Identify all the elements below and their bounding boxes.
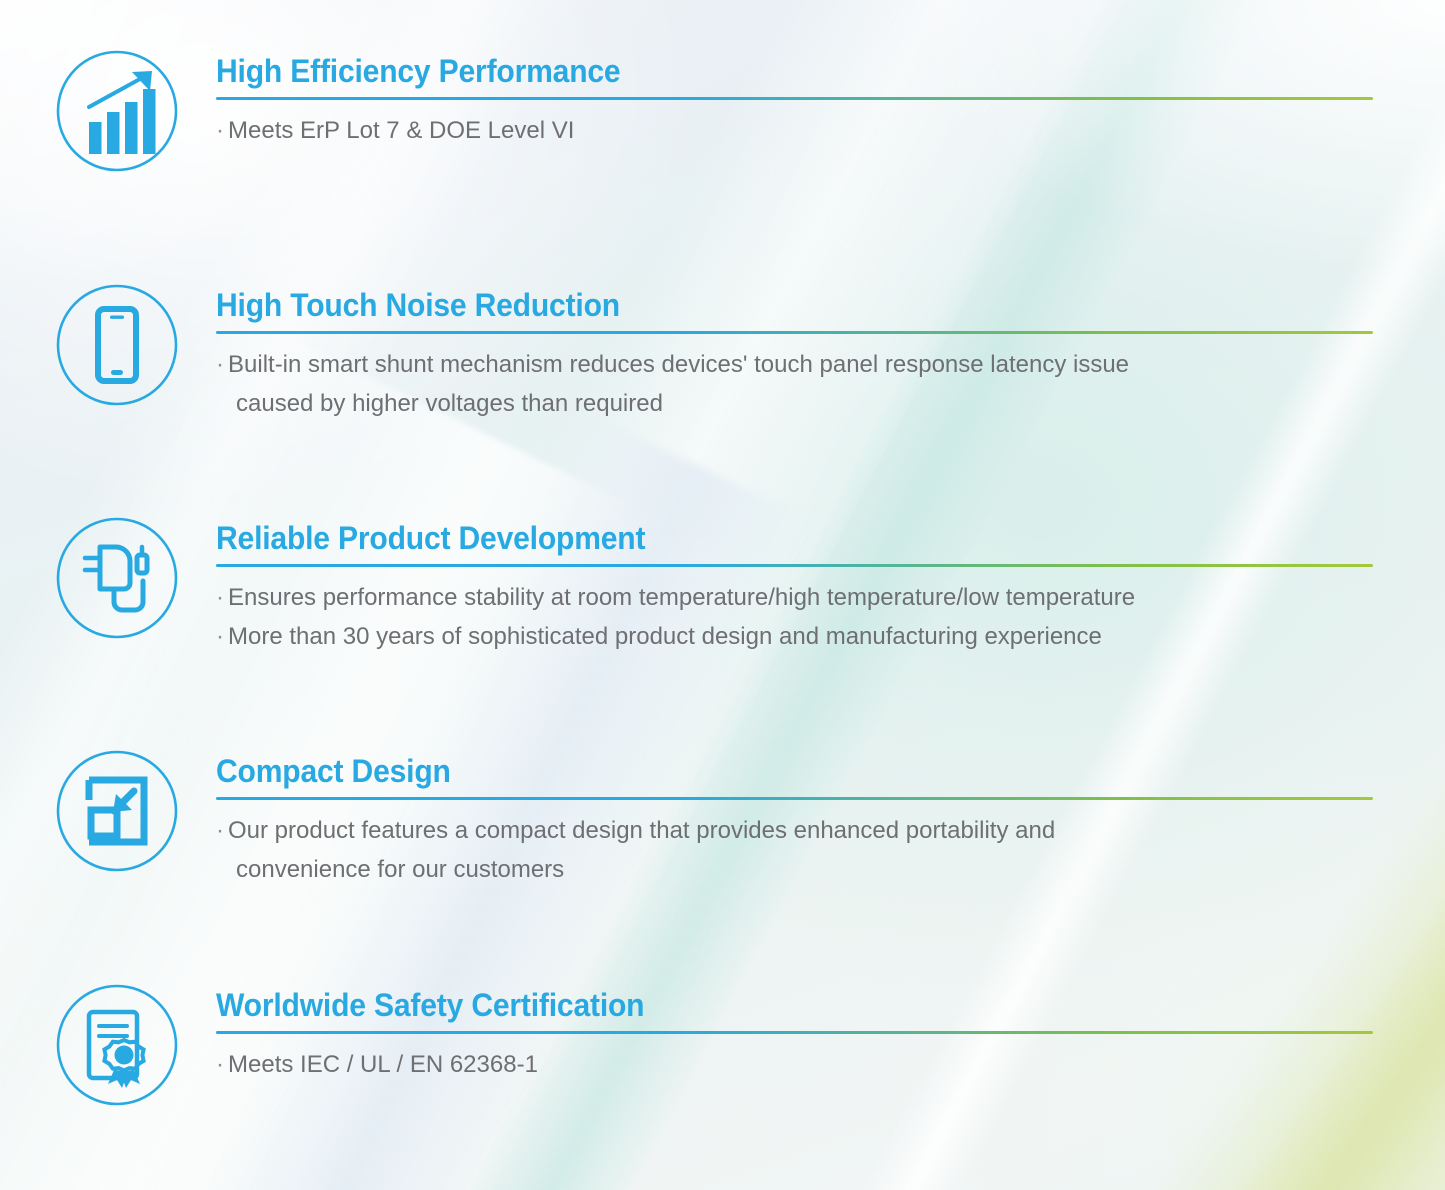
bullet-marker: ·: [216, 817, 224, 844]
title-underline: [216, 331, 1373, 334]
feature-bullets: ·Ensures performance stability at room t…: [216, 579, 1373, 657]
feature-title: Reliable Product Development: [216, 521, 1304, 557]
feature-body: High Touch Noise Reduction ·Built-in sma…: [216, 284, 1373, 424]
bullet-marker: ·: [216, 351, 224, 378]
bullet-text-continued: caused by higher voltages than required: [216, 385, 1373, 424]
bullet-marker: ·: [216, 584, 224, 611]
bullet-text: Built-in smart shunt mechanism reduces d…: [228, 351, 1129, 378]
feature-body: Worldwide Safety Certification ·Meets IE…: [216, 984, 1373, 1085]
feature-bullets: ·Built-in smart shunt mechanism reduces …: [216, 346, 1373, 424]
list-item: ·Built-in smart shunt mechanism reduces …: [216, 346, 1373, 385]
bullet-text: Meets ErP Lot 7 & DOE Level VI: [228, 117, 574, 144]
feature-bullets: ·Meets ErP Lot 7 & DOE Level VI: [216, 112, 1373, 151]
bullet-marker: ·: [216, 1051, 224, 1078]
feature-body: High Efficiency Performance ·Meets ErP L…: [216, 50, 1373, 151]
power-adapter-icon: [56, 517, 178, 639]
certificate-award-icon: [56, 984, 178, 1106]
feature-bullets: ·Our product features a compact design t…: [216, 812, 1373, 890]
feature-item-reliable-product-development: Reliable Product Development ·Ensures pe…: [56, 517, 1373, 657]
feature-item-compact-design: Compact Design ·Our product features a c…: [56, 750, 1373, 890]
title-underline: [216, 564, 1373, 567]
list-item: ·More than 30 years of sophisticated pro…: [216, 618, 1373, 657]
bullet-marker: ·: [216, 623, 224, 650]
feature-title: High Touch Noise Reduction: [216, 288, 1304, 324]
compact-resize-icon: [56, 750, 178, 872]
bullet-marker: ·: [216, 117, 224, 144]
feature-item-worldwide-safety-certification: Worldwide Safety Certification ·Meets IE…: [56, 984, 1373, 1106]
bullet-text: Ensures performance stability at room te…: [228, 584, 1135, 611]
title-underline: [216, 97, 1373, 100]
feature-title: Compact Design: [216, 754, 1304, 790]
bar-chart-growth-icon: [56, 50, 178, 172]
feature-title: Worldwide Safety Certification: [216, 988, 1304, 1024]
feature-item-high-efficiency-performance: High Efficiency Performance ·Meets ErP L…: [56, 50, 1373, 172]
feature-body: Reliable Product Development ·Ensures pe…: [216, 517, 1373, 657]
feature-item-high-touch-noise-reduction: High Touch Noise Reduction ·Built-in sma…: [56, 284, 1373, 424]
bullet-text: Our product features a compact design th…: [228, 817, 1055, 844]
list-item: ·Meets ErP Lot 7 & DOE Level VI: [216, 112, 1373, 151]
list-item: ·Meets IEC / UL / EN 62368-1: [216, 1046, 1373, 1085]
bullet-text: Meets IEC / UL / EN 62368-1: [228, 1051, 538, 1078]
bullet-text: More than 30 years of sophisticated prod…: [228, 623, 1102, 650]
smartphone-icon: [56, 284, 178, 406]
feature-body: Compact Design ·Our product features a c…: [216, 750, 1373, 890]
list-item: ·Our product features a compact design t…: [216, 812, 1373, 851]
list-item: ·Ensures performance stability at room t…: [216, 579, 1373, 618]
bullet-text-continued: convenience for our customers: [216, 851, 1373, 890]
feature-title: High Efficiency Performance: [216, 54, 1304, 90]
feature-bullets: ·Meets IEC / UL / EN 62368-1: [216, 1046, 1373, 1085]
title-underline: [216, 797, 1373, 800]
title-underline: [216, 1031, 1373, 1034]
feature-list-page: High Efficiency Performance ·Meets ErP L…: [0, 0, 1445, 1190]
